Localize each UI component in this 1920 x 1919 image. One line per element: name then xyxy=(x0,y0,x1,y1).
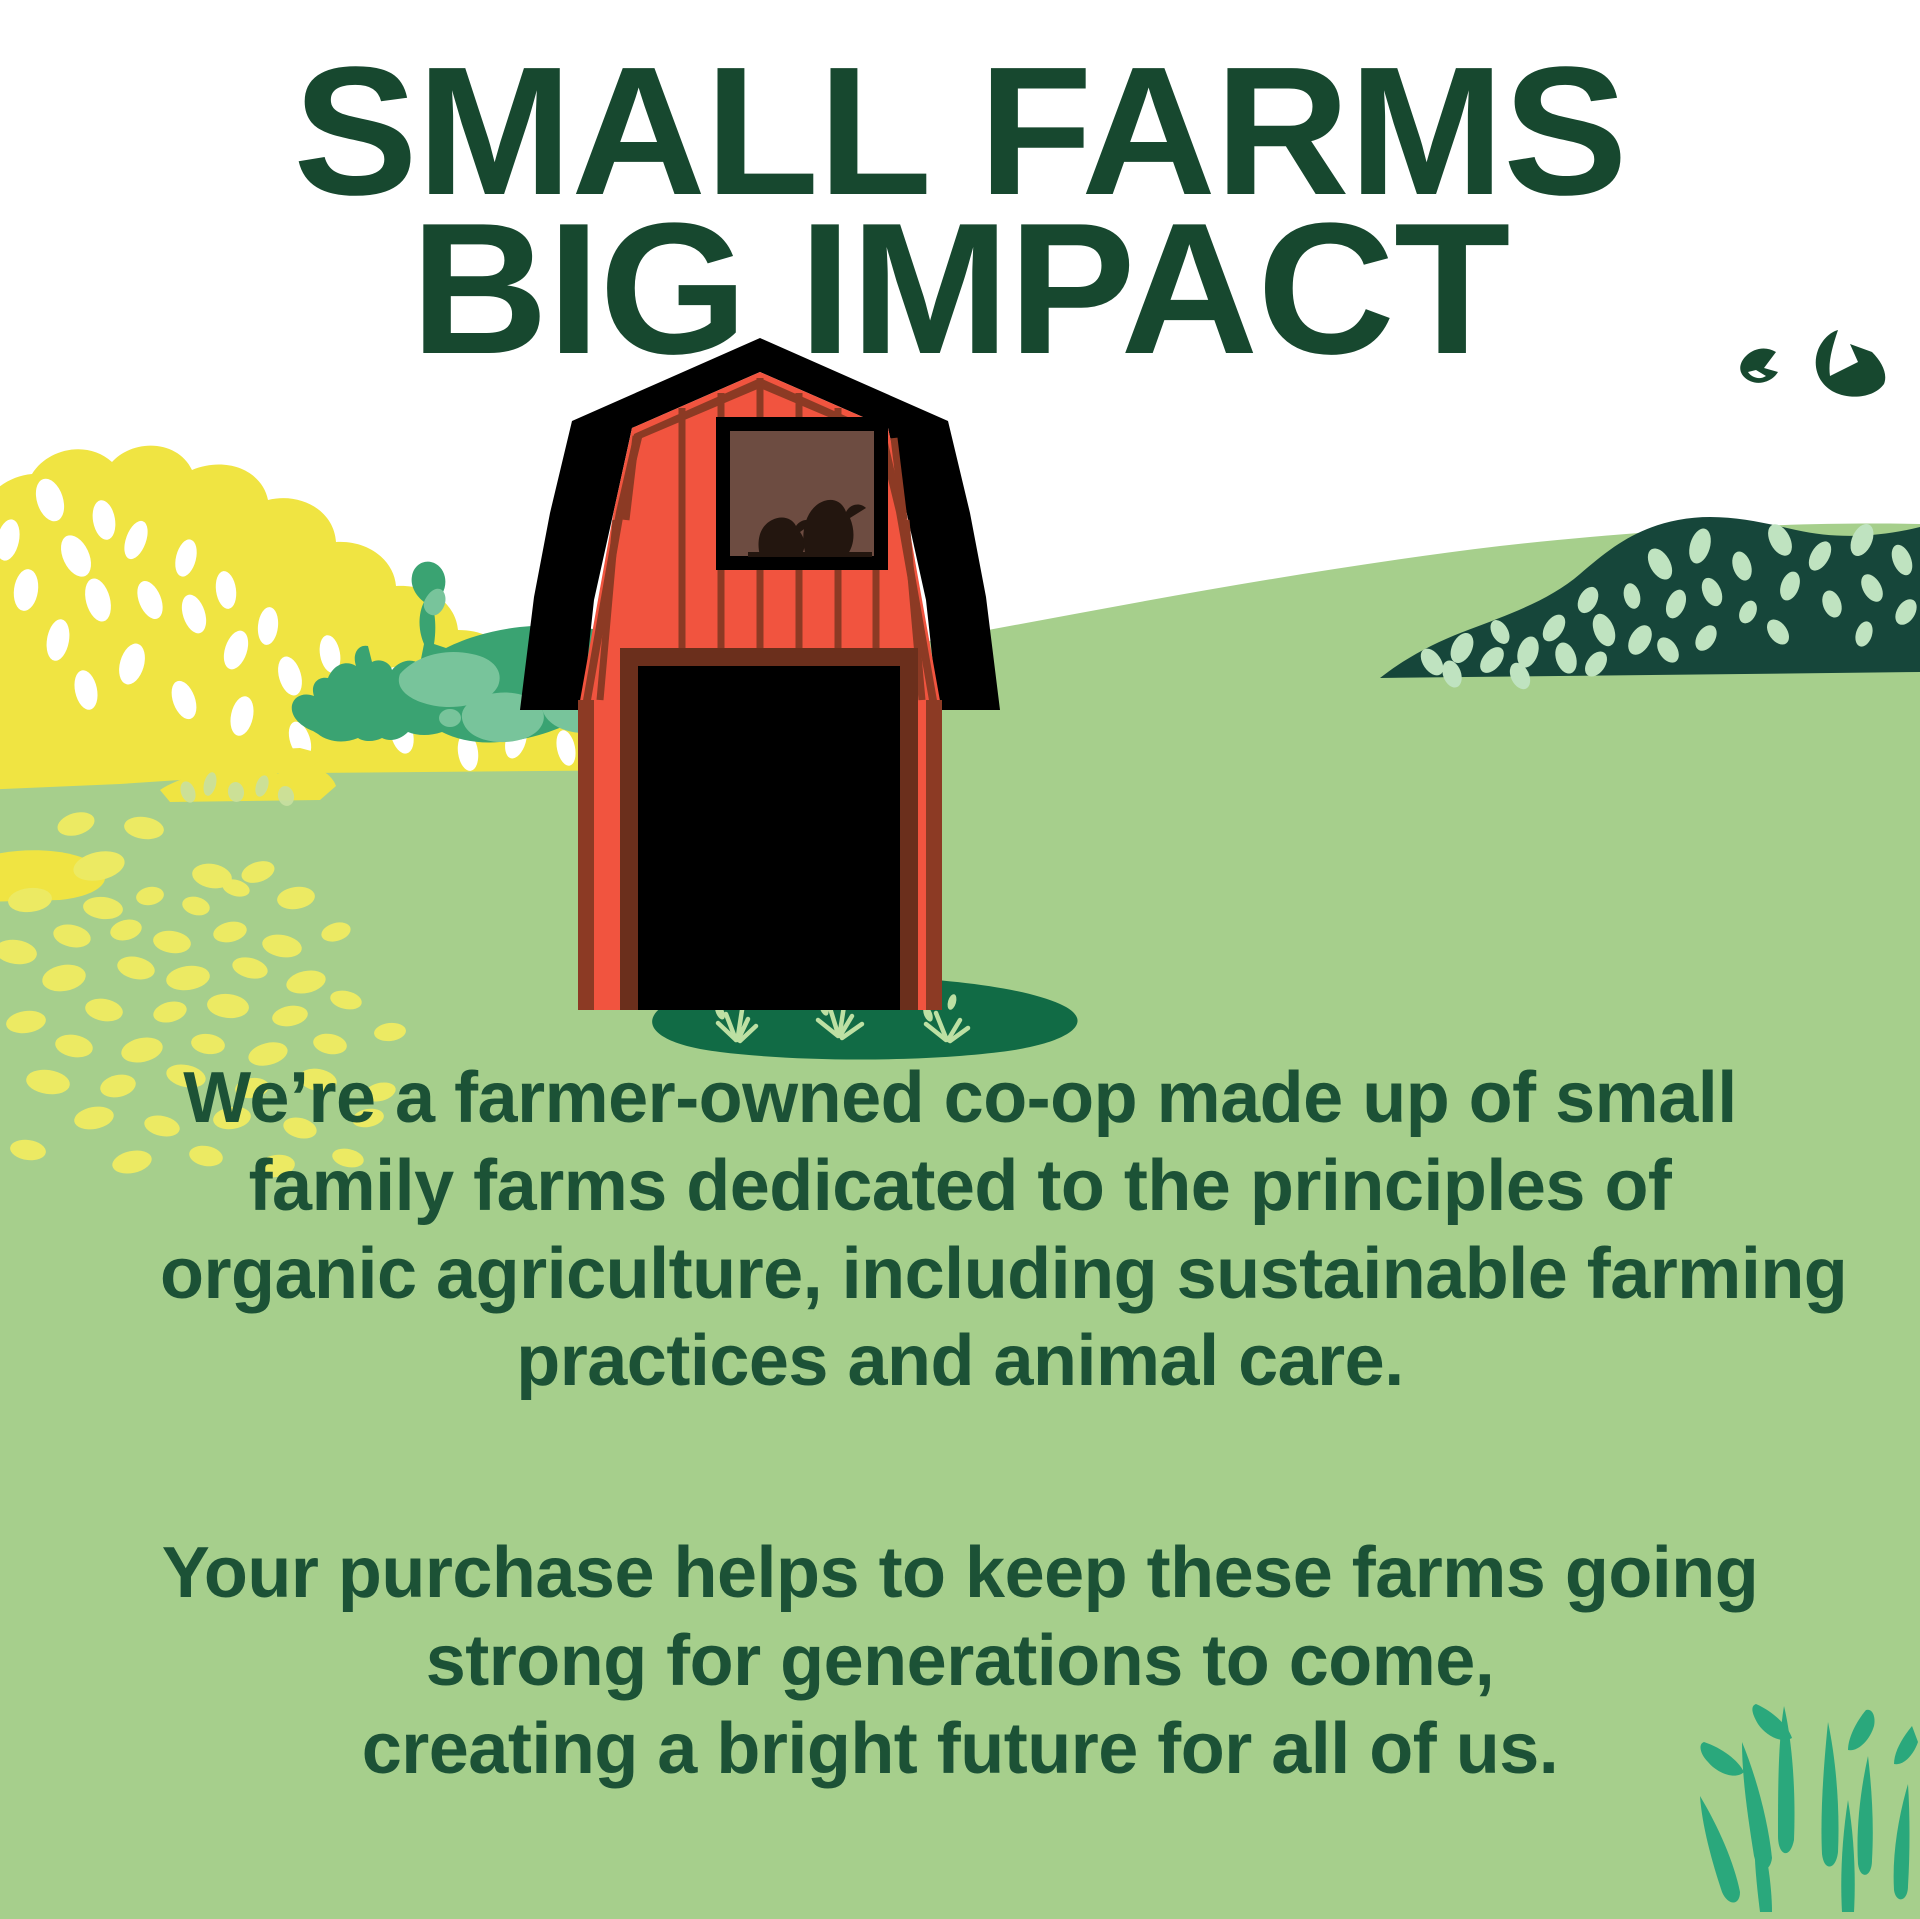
poster-canvas: SMALL FARMS BIG IMPACT We’re a farmer-ow… xyxy=(0,0,1920,1919)
paragraph-your-purchase: Your purchase helps to keep these farms … xyxy=(160,1530,1760,1793)
para2-line-2: strong for generations to come, xyxy=(160,1618,1760,1706)
para1-line-4: practices and animal care. xyxy=(160,1318,1760,1406)
barn-door-opening xyxy=(620,648,918,1010)
para1-line-2: family farms dedicated to the principles… xyxy=(160,1143,1760,1231)
para2-line-1: Your purchase helps to keep these farms … xyxy=(160,1530,1760,1618)
para1-line-1: We’re a farmer-owned co-op made up of sm… xyxy=(160,1055,1760,1143)
paragraph-about-coop: We’re a farmer-owned co-op made up of sm… xyxy=(160,1055,1760,1406)
para2-line-3: creating a bright future for all of us. xyxy=(160,1706,1760,1794)
para1-line-3: organic agriculture, including sustainab… xyxy=(160,1231,1760,1319)
